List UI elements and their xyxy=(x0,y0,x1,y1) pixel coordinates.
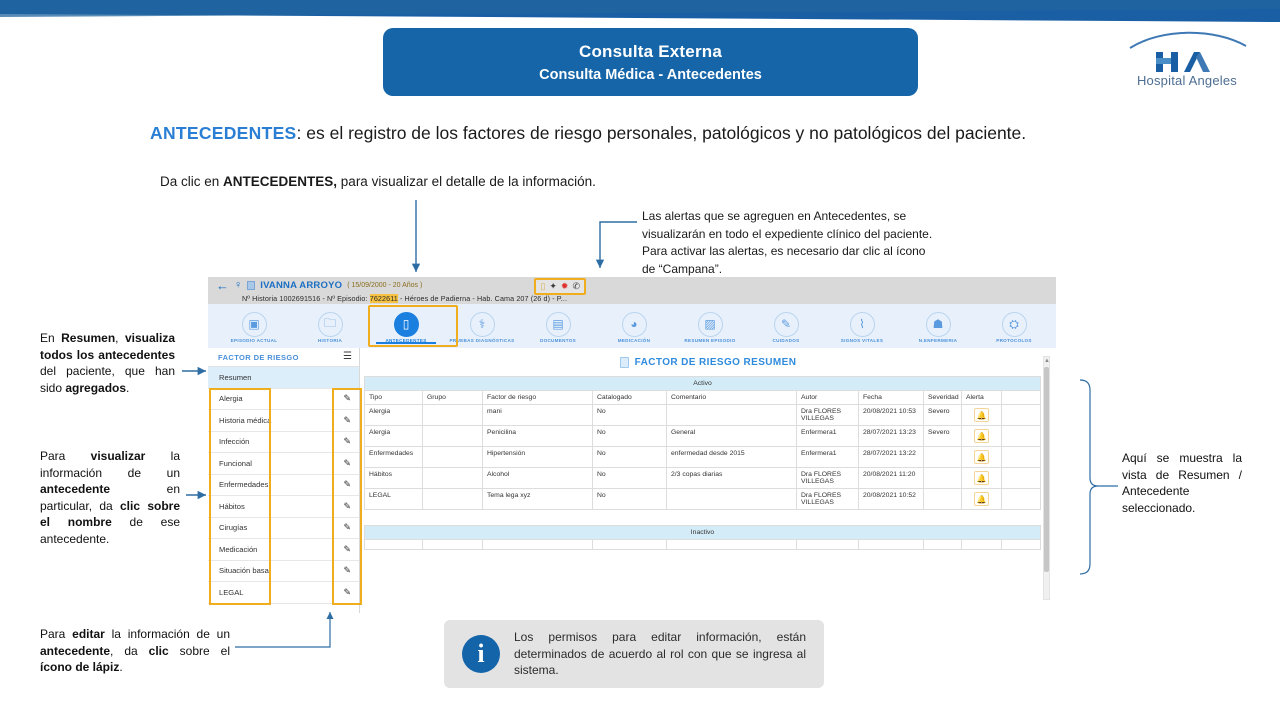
cell-fecha: 20/08/2021 11:20 xyxy=(859,468,924,489)
cell-actions xyxy=(1002,447,1041,468)
col-severidad: Severidad xyxy=(924,391,962,405)
table-row[interactable]: Enfermedades Hipertensión No enfermedad … xyxy=(365,447,1041,468)
cell-fecha: 20/08/2021 10:53 xyxy=(859,405,924,426)
nav-tab-label: RESUMEN EPISODIO xyxy=(684,338,735,343)
table-row[interactable]: Alergia Penicilina No General Enfermera1… xyxy=(365,426,1041,447)
document-icon: ▤ xyxy=(546,312,571,337)
bell-icon[interactable]: 🔔 xyxy=(974,429,989,443)
cell-factor: Tema lega xyz xyxy=(483,489,593,510)
table-band-inactivo: Inactivo xyxy=(365,526,1041,540)
cell-autor: Dra FLORES VILLEGAS xyxy=(797,405,859,426)
table-row-empty xyxy=(365,540,1041,550)
factor-riesgo-table: Activo Tipo Grupo Factor de riesgo Catal… xyxy=(364,376,1041,550)
gender-icon: ♀ xyxy=(234,280,242,291)
col-comentario: Comentario xyxy=(667,391,797,405)
cell-tipo: Enfermedades xyxy=(365,447,423,468)
cell-severidad xyxy=(924,447,962,468)
info-note-text: Los permisos para editar información, es… xyxy=(514,629,806,679)
nav-tab-label: N.ENFERMERIA xyxy=(919,338,958,343)
intro-keyword: ANTECEDENTES xyxy=(150,123,297,143)
table-row[interactable]: Alergia mani No Dra FLORES VILLEGAS 20/0… xyxy=(365,405,1041,426)
cell-comentario: General xyxy=(667,426,797,447)
callout-alerts-line1: Las alertas que se agreguen en Anteceden… xyxy=(642,208,1062,226)
cell-severidad: Severo xyxy=(924,405,962,426)
nav-tab-label: EPISODIO ACTUAL xyxy=(231,338,278,343)
table-header-row: Tipo Grupo Factor de riesgo Catalogado C… xyxy=(365,391,1041,405)
patient-episode-details: Nº Historia 1002691516 - Nº Episodio: 76… xyxy=(216,294,1050,303)
sidebar-item-resumen[interactable]: Resumen xyxy=(208,367,359,389)
folder-icon: 🗀 xyxy=(318,312,343,337)
monitor-icon: ▣ xyxy=(242,312,267,337)
col-actions xyxy=(1002,391,1041,405)
cell-comentario: enfermedad desde 2015 xyxy=(667,447,797,468)
cell-comentario xyxy=(667,405,797,426)
col-catalogado: Catalogado xyxy=(593,391,667,405)
nav-tab-label: CUIDADOS xyxy=(773,338,800,343)
content-title-label: FACTOR DE RIESGO RESUMEN xyxy=(635,357,797,368)
col-tipo: Tipo xyxy=(365,391,423,405)
sidebar-title: FACTOR DE RIESGO xyxy=(218,353,299,362)
cell-actions xyxy=(1002,405,1041,426)
hamburger-icon[interactable]: ☰ xyxy=(343,352,352,362)
nav-tab-medicacion[interactable]: ◕ MEDICACIÓN xyxy=(596,310,672,343)
table-row[interactable]: Hábitos Alcohol No 2/3 copas diarias Dra… xyxy=(365,468,1041,489)
patient-alert-icons-group[interactable]: ▯ ✦ ✹ ✆ xyxy=(534,278,586,295)
chart-icon: ⌇ xyxy=(850,312,875,337)
col-alerta: Alerta xyxy=(962,391,1002,405)
intro-rest: : es el registro de los factores de ries… xyxy=(297,123,1027,143)
col-grupo: Grupo xyxy=(423,391,483,405)
patient-header: ← ♀ IVANNA ARROYO ( 15/09/2000 - 20 Años… xyxy=(208,277,1056,304)
cell-tipo: Hábitos xyxy=(365,468,423,489)
cell-alerta[interactable]: 🔔 xyxy=(962,447,1002,468)
logo-mark-icon xyxy=(1122,30,1252,72)
patient-birthdate-age: ( 15/09/2000 - 20 Años ) xyxy=(347,282,422,289)
nav-tab-documentos[interactable]: ▤ DOCUMENTOS xyxy=(520,310,596,343)
cell-autor: Dra FLORES VILLEGAS xyxy=(797,468,859,489)
cell-alerta[interactable]: 🔔 xyxy=(962,468,1002,489)
nav-tab-label: MEDICACIÓN xyxy=(618,338,651,343)
pencil-icon: ✎ xyxy=(774,312,799,337)
episode-number: 7622611 xyxy=(370,294,398,303)
infection-icon[interactable]: ✹ xyxy=(561,281,569,292)
cell-comentario xyxy=(667,489,797,510)
cell-catalogado: No xyxy=(593,468,667,489)
annotation-ver-antecedente: Para visualizar la información de un ant… xyxy=(40,448,180,547)
cell-grupo xyxy=(423,405,483,426)
cell-alerta[interactable]: 🔔 xyxy=(962,426,1002,447)
cell-tipo: Alergia xyxy=(365,426,423,447)
allergy-icon[interactable]: ✦ xyxy=(549,281,557,292)
module-nav-strip[interactable]: ▣ EPISODIO ACTUAL 🗀 HISTORIA ▯ ANTECEDEN… xyxy=(208,304,1056,348)
callout-alerts: Las alertas que se agreguen en Anteceden… xyxy=(642,208,1062,278)
cell-grupo xyxy=(423,426,483,447)
cell-factor: mani xyxy=(483,405,593,426)
cell-autor: Enfermera1 xyxy=(797,447,859,468)
cell-grupo xyxy=(423,447,483,468)
hospital-logo: Hospital Angeles xyxy=(1122,30,1252,88)
nav-tab-episodio-actual[interactable]: ▣ EPISODIO ACTUAL xyxy=(216,310,292,343)
sidebar-header: FACTOR DE RIESGO ☰ xyxy=(208,348,359,367)
cell-catalogado: No xyxy=(593,405,667,426)
nurse-icon: ☗ xyxy=(926,312,951,337)
contact-icon[interactable]: ✆ xyxy=(572,281,580,292)
door-icon[interactable]: ▯ xyxy=(540,281,545,292)
annotation-resumen: En Resumen, visualiza todos los antecede… xyxy=(40,330,175,396)
cell-grupo xyxy=(423,489,483,510)
nav-tab-n-enfermeria[interactable]: ☗ N.ENFERMERIA xyxy=(900,310,976,343)
table-band-activo: Activo xyxy=(365,377,1041,391)
nav-tab-signos-vitales[interactable]: ⌇ SIGNOS VITALES xyxy=(824,310,900,343)
back-arrow-icon[interactable]: ← xyxy=(216,280,229,291)
nav-tab-resumen-episodio[interactable]: ▨ RESUMEN EPISODIO xyxy=(672,310,748,343)
cell-tipo: LEGAL xyxy=(365,489,423,510)
microscope-icon: ⚕ xyxy=(470,312,495,337)
bell-icon[interactable]: 🔔 xyxy=(974,450,989,464)
bell-icon[interactable]: 🔔 xyxy=(974,471,989,485)
cell-severidad xyxy=(924,489,962,510)
bell-icon[interactable]: 🔔 xyxy=(974,492,989,506)
cell-factor: Alcohol xyxy=(483,468,593,489)
cell-comentario: 2/3 copas diarias xyxy=(667,468,797,489)
patient-record-icon xyxy=(247,281,255,290)
title-line-2: Consulta Médica - Antecedentes xyxy=(539,67,762,83)
cell-severidad: Severo xyxy=(924,426,962,447)
cell-alerta[interactable]: 🔔 xyxy=(962,405,1002,426)
scrollbar-thumb[interactable] xyxy=(1044,367,1049,572)
nav-tab-label: PROTOCOLOS xyxy=(996,338,1032,343)
nav-tab-cuidados[interactable]: ✎ CUIDADOS xyxy=(748,310,824,343)
scroll-up-icon[interactable]: ▲ xyxy=(1044,357,1049,365)
cell-autor: Dra FLORES VILLEGAS xyxy=(797,489,859,510)
content-title: FACTOR DE RIESGO RESUMEN xyxy=(360,348,1056,376)
cell-grupo xyxy=(423,468,483,489)
annotation-vista-resumen: Aquí se muestra la vista de Resumen / An… xyxy=(1122,450,1242,516)
info-icon: i xyxy=(462,635,500,673)
col-factor-riesgo: Factor de riesgo xyxy=(483,391,593,405)
cell-factor: Hipertensión xyxy=(483,447,593,468)
patient-name[interactable]: IVANNA ARROYO xyxy=(260,280,342,291)
annotation-editar-antecedente: Para editar la información de un anteced… xyxy=(40,626,230,676)
content-panel: FACTOR DE RIESGO RESUMEN Activo Tipo Gru… xyxy=(360,348,1056,613)
cell-actions xyxy=(1002,426,1041,447)
nav-tab-label: DOCUMENTOS xyxy=(540,338,576,343)
bell-icon[interactable]: 🔔 xyxy=(974,408,989,422)
content-scrollbar[interactable]: ▲ xyxy=(1043,356,1050,600)
cell-tipo: Alergia xyxy=(365,405,423,426)
info-note: i Los permisos para editar información, … xyxy=(444,620,824,688)
nav-tab-label: HISTORIA xyxy=(318,338,342,343)
sub-bold: ANTECEDENTES, xyxy=(223,174,337,189)
cell-catalogado: No xyxy=(593,426,667,447)
cell-autor: Enfermera1 xyxy=(797,426,859,447)
pills-icon: ◕ xyxy=(622,312,647,337)
cell-actions xyxy=(1002,489,1041,510)
table-row[interactable]: LEGAL Tema lega xyz No Dra FLORES VILLEG… xyxy=(365,489,1041,510)
col-fecha: Fecha xyxy=(859,391,924,405)
page-title-badge: Consulta Externa Consulta Médica - Antec… xyxy=(383,28,918,96)
sub-instruction: Da clic en ANTECEDENTES, para visualizar… xyxy=(160,174,860,189)
nav-tab-label: PRUEBAS DIAGNÓSTICAS xyxy=(450,338,515,343)
top-decorative-bar xyxy=(0,0,1280,26)
cell-factor: Penicilina xyxy=(483,426,593,447)
col-autor: Autor xyxy=(797,391,859,405)
callout-alerts-line3: Para activar las alertas, es necesario d… xyxy=(642,243,1062,261)
title-line-1: Consulta Externa xyxy=(579,42,722,62)
band-label: Activo xyxy=(365,377,1041,391)
sidebar-item-label: Resumen xyxy=(219,373,252,382)
sub-after: para visualizar el detalle de la informa… xyxy=(337,174,596,189)
highlight-box-sidebar-names xyxy=(209,388,271,605)
clipboard-icon xyxy=(620,357,629,368)
cell-actions xyxy=(1002,468,1041,489)
band-label: Inactivo xyxy=(365,526,1041,540)
network-icon: ⛭ xyxy=(1002,312,1027,337)
cell-fecha: 28/07/2021 13:23 xyxy=(859,426,924,447)
logo-name: Hospital Angeles xyxy=(1122,73,1252,88)
cell-fecha: 28/07/2021 13:22 xyxy=(859,447,924,468)
callout-alerts-line4: de “Campana”. xyxy=(642,261,1062,279)
nav-tab-historia[interactable]: 🗀 HISTORIA xyxy=(292,310,368,343)
cell-severidad xyxy=(924,468,962,489)
episode-pre: Nº Historia 1002691516 - Nº Episodio: xyxy=(242,294,370,303)
highlight-box-antecedentes-tab xyxy=(368,305,458,347)
callout-alerts-line2: visualizarán en todo el expediente clíni… xyxy=(642,226,1062,244)
cell-catalogado: No xyxy=(593,447,667,468)
highlight-box-sidebar-pencils xyxy=(332,388,362,605)
nav-tab-protocolos[interactable]: ⛭ PROTOCOLOS xyxy=(976,310,1052,343)
nav-tab-label: SIGNOS VITALES xyxy=(841,338,883,343)
summary-icon: ▨ xyxy=(698,312,723,337)
episode-post: - Héroes de Padierna - Hab. Cama 207 (26… xyxy=(398,294,567,303)
cell-alerta[interactable]: 🔔 xyxy=(962,489,1002,510)
cell-fecha: 20/08/2021 10:52 xyxy=(859,489,924,510)
sub-before: Da clic en xyxy=(160,174,223,189)
cell-catalogado: No xyxy=(593,489,667,510)
intro-paragraph: ANTECEDENTES: es el registro de los fact… xyxy=(150,123,1130,144)
